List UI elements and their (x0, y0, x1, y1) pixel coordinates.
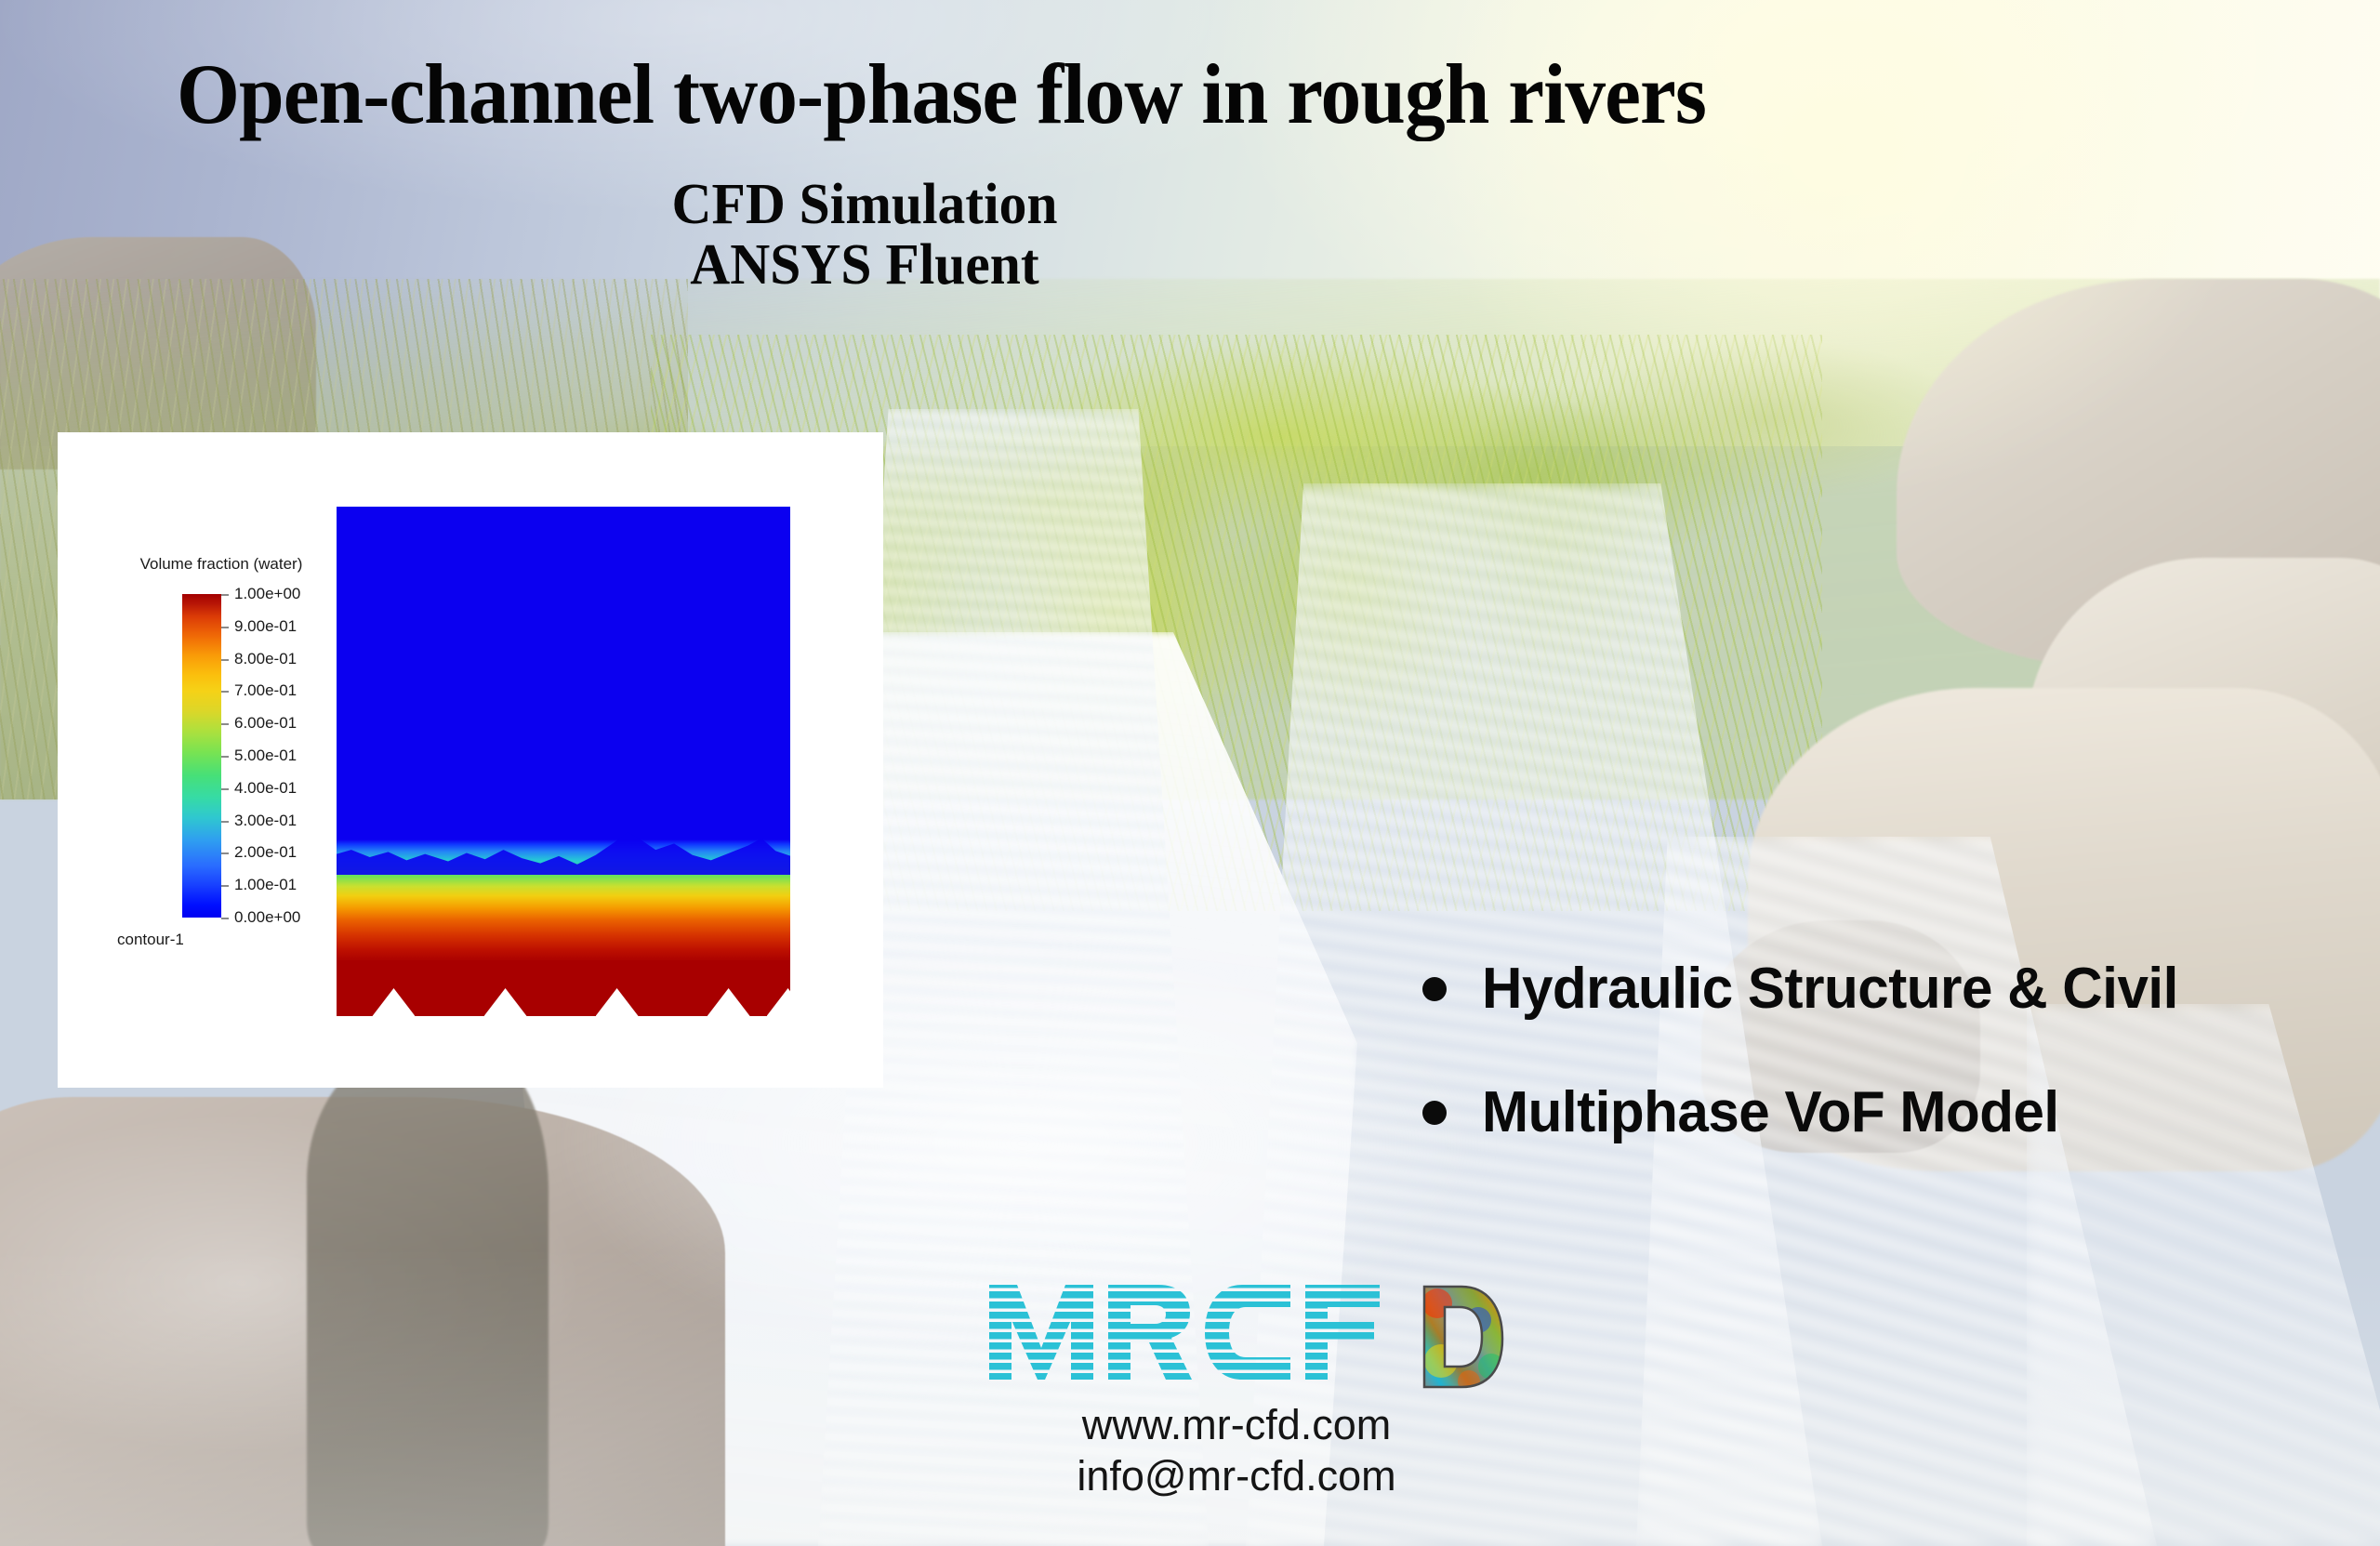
colorbar-tick-label: 4.00e-01 (234, 779, 297, 798)
volume-fraction-contour-field (337, 507, 790, 1016)
colorbar-tick-mark (221, 885, 229, 887)
bed-roughness-triangle (484, 988, 527, 1016)
list-item: Multiphase VoF Model (1422, 1079, 2352, 1145)
logo-letter-f-icon (1302, 1281, 1382, 1383)
colorbar-tick-mark (221, 852, 229, 854)
colorbar-tick-label: 0.00e+00 (234, 908, 300, 927)
bullet-dot-icon (1422, 1101, 1447, 1125)
email-address[interactable]: info@mr-cfd.com (985, 1451, 1487, 1502)
colorbar-tick-mark (221, 659, 229, 661)
colorbar-tick-mark (221, 627, 229, 628)
logo-letter-c-icon (1201, 1281, 1294, 1383)
colorbar-tick-mark (221, 691, 229, 693)
colorbar-title: Volume fraction (water) (110, 555, 333, 574)
colorbar-tick-label: 8.00e-01 (234, 650, 297, 668)
bullet-label: Hydraulic Structure & Civil (1482, 956, 2178, 1022)
website-url[interactable]: www.mr-cfd.com (985, 1400, 1487, 1451)
subtitle-line-2: ANSYS Fluent (34, 235, 1695, 296)
bed-roughness-triangle (707, 988, 750, 1016)
colorbar-tick-label: 9.00e-01 (234, 617, 297, 636)
colorbar-tick-mark (221, 788, 229, 790)
bullet-label: Multiphase VoF Model (1482, 1079, 2059, 1145)
brand-logo-block: www.mr-cfd.com info@mr-cfd.com (985, 1281, 1506, 1502)
contour-name-label: contour-1 (117, 931, 184, 949)
colorbar-tick-label: 1.00e-01 (234, 876, 297, 894)
cfd-contour-panel: Volume fraction (water) 1.00e+009.00e-01… (58, 432, 883, 1088)
colorbar-tick-label: 7.00e-01 (234, 681, 297, 700)
logo-wordmark (985, 1281, 1506, 1391)
logo-letter-r-icon (1104, 1281, 1194, 1383)
colorbar-tick-mark (221, 918, 229, 919)
colorbar-ticks (221, 594, 231, 918)
colorbar-tick-label: 1.00e+00 (234, 585, 300, 603)
colorbar-tick-mark (221, 756, 229, 758)
bed-roughness-triangle (767, 988, 790, 1016)
colorbar-tick-label: 6.00e-01 (234, 714, 297, 733)
colorbar-tick-mark (221, 723, 229, 725)
slide-canvas: Open-channel two-phase flow in rough riv… (0, 0, 2380, 1546)
contact-info: www.mr-cfd.com info@mr-cfd.com (985, 1400, 1487, 1502)
page-title: Open-channel two-phase flow in rough riv… (177, 51, 2084, 137)
feature-bullet-list: Hydraulic Structure & Civil Multiphase V… (1422, 956, 2352, 1203)
subtitle-block: CFD Simulation ANSYS Fluent (0, 175, 1729, 296)
colorbar-tick-mark (221, 821, 229, 823)
colorbar-tick-label: 5.00e-01 (234, 747, 297, 765)
bed-roughness-triangle (596, 988, 639, 1016)
colorbar-tick-mark (221, 594, 229, 596)
colorbar-tick-label: 2.00e-01 (234, 843, 297, 862)
bed-roughness-triangle (372, 988, 415, 1016)
logo-letter-m-icon (985, 1281, 1097, 1383)
colorbar-tick-labels: 1.00e+009.00e-018.00e-017.00e-016.00e-01… (234, 594, 337, 918)
list-item: Hydraulic Structure & Civil (1422, 956, 2352, 1022)
logo-letter-d-contour-icon (1413, 1281, 1506, 1383)
subtitle-line-1: CFD Simulation (34, 175, 1695, 235)
bullet-dot-icon (1422, 977, 1447, 1001)
colorbar-tick-label: 3.00e-01 (234, 812, 297, 830)
colorbar-gradient (182, 594, 221, 918)
contour-bed-roughness-elements (337, 988, 790, 1016)
